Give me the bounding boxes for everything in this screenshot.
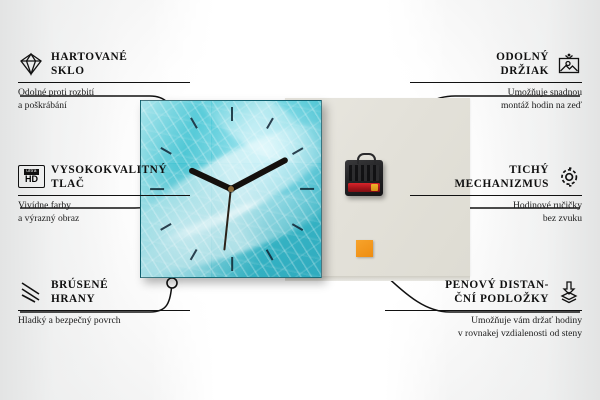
feature-description: Hodinové ručičkybez zvuku: [410, 200, 582, 225]
feature-description: Umožňuje vám držať hodinyv rovnakej vzdi…: [385, 315, 582, 340]
divider: [410, 82, 582, 83]
feature-tempered-glass: HARTOVANÉSKLO Odolné proti rozbitía pošk…: [18, 50, 190, 112]
gear-icon: [556, 165, 582, 189]
divider: [385, 310, 582, 311]
arrow-onto-stack-icon: [556, 280, 582, 304]
clock-mechanism: [345, 160, 383, 196]
infographic-canvas: HARTOVANÉSKLO Odolné proti rozbitía pošk…: [0, 0, 600, 400]
clock-tick: [231, 107, 233, 121]
divider: [18, 310, 190, 311]
feature-title: HARTOVANÉSKLO: [18, 50, 190, 78]
feature-title-text: ODOLNÝDRŽIAK: [496, 50, 549, 78]
feature-title: TICHÝMECHANIZMUS: [410, 163, 582, 191]
feature-title: ultra HD VYSOKOKVALITNÝTLAČ: [18, 163, 190, 191]
feature-title-text: BRÚSENÉHRANY: [51, 278, 108, 306]
feature-description: Umožňuje snadnoumontáž hodin na zeď: [410, 87, 582, 112]
feature-title-text: PENOVÝ DISTAN-ČNÍ PODLOŽKY: [445, 278, 549, 306]
feature-high-quality-print: ultra HD VYSOKOKVALITNÝTLAČ Vivídne farb…: [18, 163, 190, 225]
feature-ground-edges: BRÚSENÉHRANY Hladký a bezpečný povrch: [18, 278, 190, 328]
hanger-loop-icon: [357, 153, 376, 164]
feature-title: BRÚSENÉHRANY: [18, 278, 190, 306]
mechanism-body: [349, 165, 379, 181]
clock-tick: [231, 257, 233, 271]
feature-title-text: VYSOKOKVALITNÝTLAČ: [51, 163, 167, 191]
divider: [410, 195, 582, 196]
diamond-icon: [18, 52, 44, 76]
clock-center-pin: [228, 186, 234, 192]
feature-silent-mechanism: TICHÝMECHANIZMUS Hodinové ručičkybez zvu…: [410, 163, 582, 225]
feature-title: PENOVÝ DISTAN-ČNÍ PODLOŽKY: [385, 278, 582, 306]
picture-frame-hanging-icon: [556, 52, 582, 76]
diagonal-lines-icon: [18, 280, 44, 304]
battery: [348, 183, 380, 192]
divider: [18, 195, 190, 196]
feature-durable-holder: ODOLNÝDRŽIAK Umožňuje snadnoumontáž hodi…: [410, 50, 582, 112]
feature-title-text: HARTOVANÉSKLO: [51, 50, 127, 78]
foam-spacer-pad: [356, 240, 373, 257]
feature-description: Vivídne farbya výrazný obraz: [18, 200, 190, 225]
feature-description: Hladký a bezpečný povrch: [18, 315, 190, 327]
divider: [18, 82, 190, 83]
feature-title-text: TICHÝMECHANIZMUS: [454, 163, 549, 191]
clock-tick: [300, 188, 314, 190]
feature-title: ODOLNÝDRŽIAK: [410, 50, 582, 78]
feature-description: Odolné proti rozbitía poškrábání: [18, 87, 190, 112]
ultra-hd-icon: ultra HD: [18, 165, 44, 189]
feature-foam-spacers: PENOVÝ DISTAN-ČNÍ PODLOŽKY Umožňuje vám …: [385, 278, 582, 340]
